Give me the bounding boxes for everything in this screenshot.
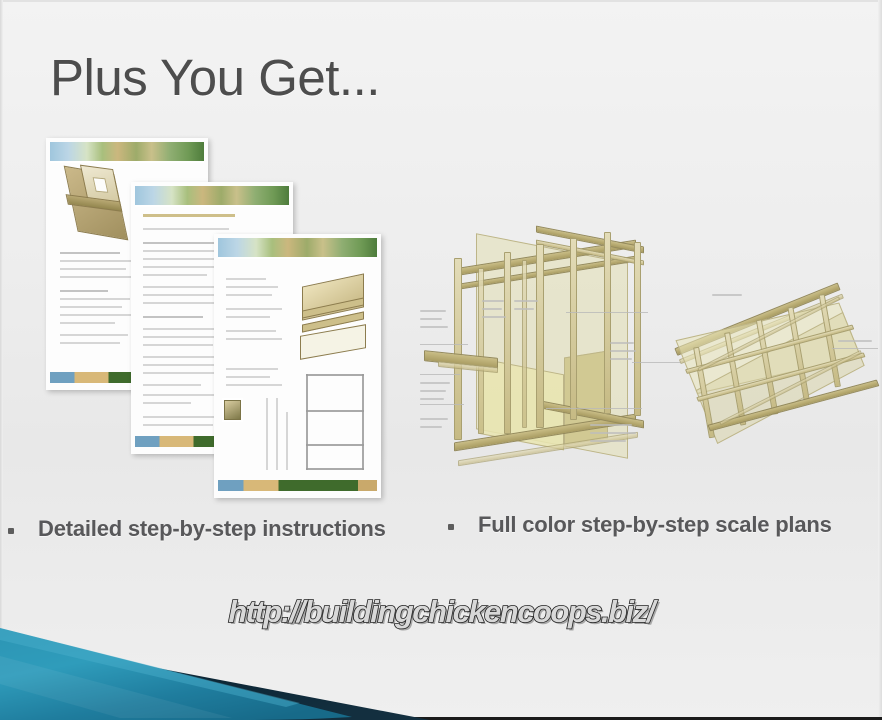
callout-tag [610, 350, 636, 352]
color-scale-plan-diagrams-image [418, 214, 878, 504]
square-bullet-icon [8, 528, 14, 534]
callout-tag [420, 310, 446, 312]
callout-line [832, 348, 878, 349]
callout-tag [482, 300, 504, 302]
page-footer-band [218, 480, 377, 491]
callout-tag [420, 390, 446, 392]
callout-tag [482, 308, 502, 310]
callout-tag [420, 382, 450, 384]
callout-tag [590, 440, 626, 442]
slide-top-edge [0, 0, 882, 2]
callout-line [566, 312, 648, 313]
callout-tag [420, 426, 442, 428]
callout-tag [420, 318, 442, 320]
bullet-label: Full color step-by-step scale plans [478, 512, 832, 537]
page-title: Plus You Get... [50, 48, 380, 108]
stacked-manual-pages-image [46, 138, 391, 500]
list-item: Full color step-by-step scale plans [448, 512, 868, 537]
callout-tag [590, 432, 636, 434]
teal-corner-swoosh [0, 560, 470, 720]
manual-page-front [214, 234, 381, 498]
list-item: Detailed step-by-step instructions [8, 516, 428, 541]
page-header-band [218, 238, 377, 257]
callout-tag [420, 398, 444, 400]
callout-tag [610, 342, 634, 344]
callout-line [546, 408, 642, 409]
callout-tag [420, 418, 448, 420]
callout-tag [420, 326, 448, 328]
callout-tag [712, 294, 742, 296]
callout-tag [514, 300, 538, 302]
callout-tag [514, 308, 534, 310]
square-bullet-icon [448, 524, 454, 530]
nest-box-thumbnail [224, 400, 241, 420]
presentation-slide: Plus You Get... [0, 0, 882, 720]
a-frame-run-isometric [686, 282, 878, 467]
callout-tag [838, 340, 872, 342]
callout-tag [482, 316, 506, 318]
callout-tag [610, 358, 632, 360]
callout-tag [590, 424, 632, 426]
bullet-label: Detailed step-by-step instructions [38, 516, 386, 541]
page-header-band [50, 142, 204, 161]
coop-frame-isometric [418, 214, 678, 504]
page-header-band [135, 186, 289, 205]
